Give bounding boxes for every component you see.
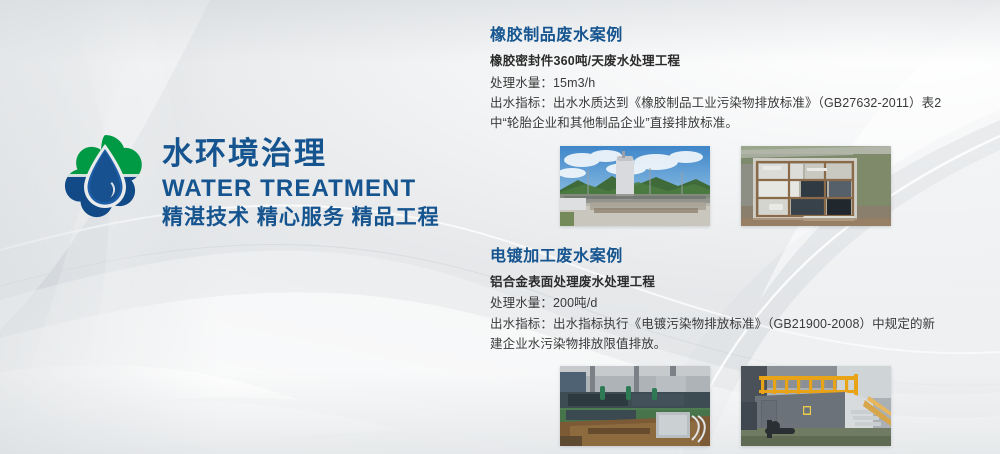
case-title: 电镀加工废水案例 <box>490 247 960 267</box>
photo-rubber-plant-exterior <box>560 146 710 226</box>
water-drop-flower-logo-icon <box>64 132 146 224</box>
brand-text: 水环境治理 WATER TREATMENT 精湛技术 精心服务 精品工程 <box>162 132 440 231</box>
case-standard: 出水指标：出水水质达到《橡胶制品工业污染物排放标准》（GB27632-2011）… <box>490 93 942 134</box>
case-block-rubber: 橡胶制品废水案例 橡胶密封件360吨/天废水处理工程 处理水量：15m3/h 出… <box>490 26 960 226</box>
photo-rubber-aerial-tanks <box>741 146 891 226</box>
case-subtitle: 铝合金表面处理废水处理工程 <box>490 273 960 292</box>
brand-slogan: 精湛技术 精心服务 精品工程 <box>162 204 440 232</box>
case-block-plating: 电镀加工废水案例 铝合金表面处理废水处理工程 处理水量：200吨/d 出水指标：… <box>490 247 960 447</box>
case-photo-row <box>490 146 960 226</box>
case-standard: 出水指标：出水指标执行《电镀污染物排放标准》（GB21900-2008）中规定的… <box>490 314 942 355</box>
case-title: 橡胶制品废水案例 <box>490 26 960 46</box>
photo-plating-equipment-room <box>741 366 891 446</box>
case-subtitle: 橡胶密封件360吨/天废水处理工程 <box>490 52 960 71</box>
brand-title-cn: 水环境治理 <box>162 136 440 173</box>
brand-title-en: WATER TREATMENT <box>162 173 440 204</box>
case-photo-row <box>490 366 960 446</box>
case-capacity: 处理水量：200吨/d <box>490 293 960 313</box>
water-treatment-banner: 水环境治理 WATER TREATMENT 精湛技术 精心服务 精品工程 橡胶制… <box>0 0 1000 454</box>
case-list: 橡胶制品废水案例 橡胶密封件360吨/天废水处理工程 处理水量：15m3/h 出… <box>490 26 960 446</box>
case-capacity: 处理水量：15m3/h <box>490 73 960 93</box>
photo-plating-indoor-tanks <box>560 366 710 446</box>
brand-block: 水环境治理 WATER TREATMENT 精湛技术 精心服务 精品工程 <box>64 132 440 231</box>
